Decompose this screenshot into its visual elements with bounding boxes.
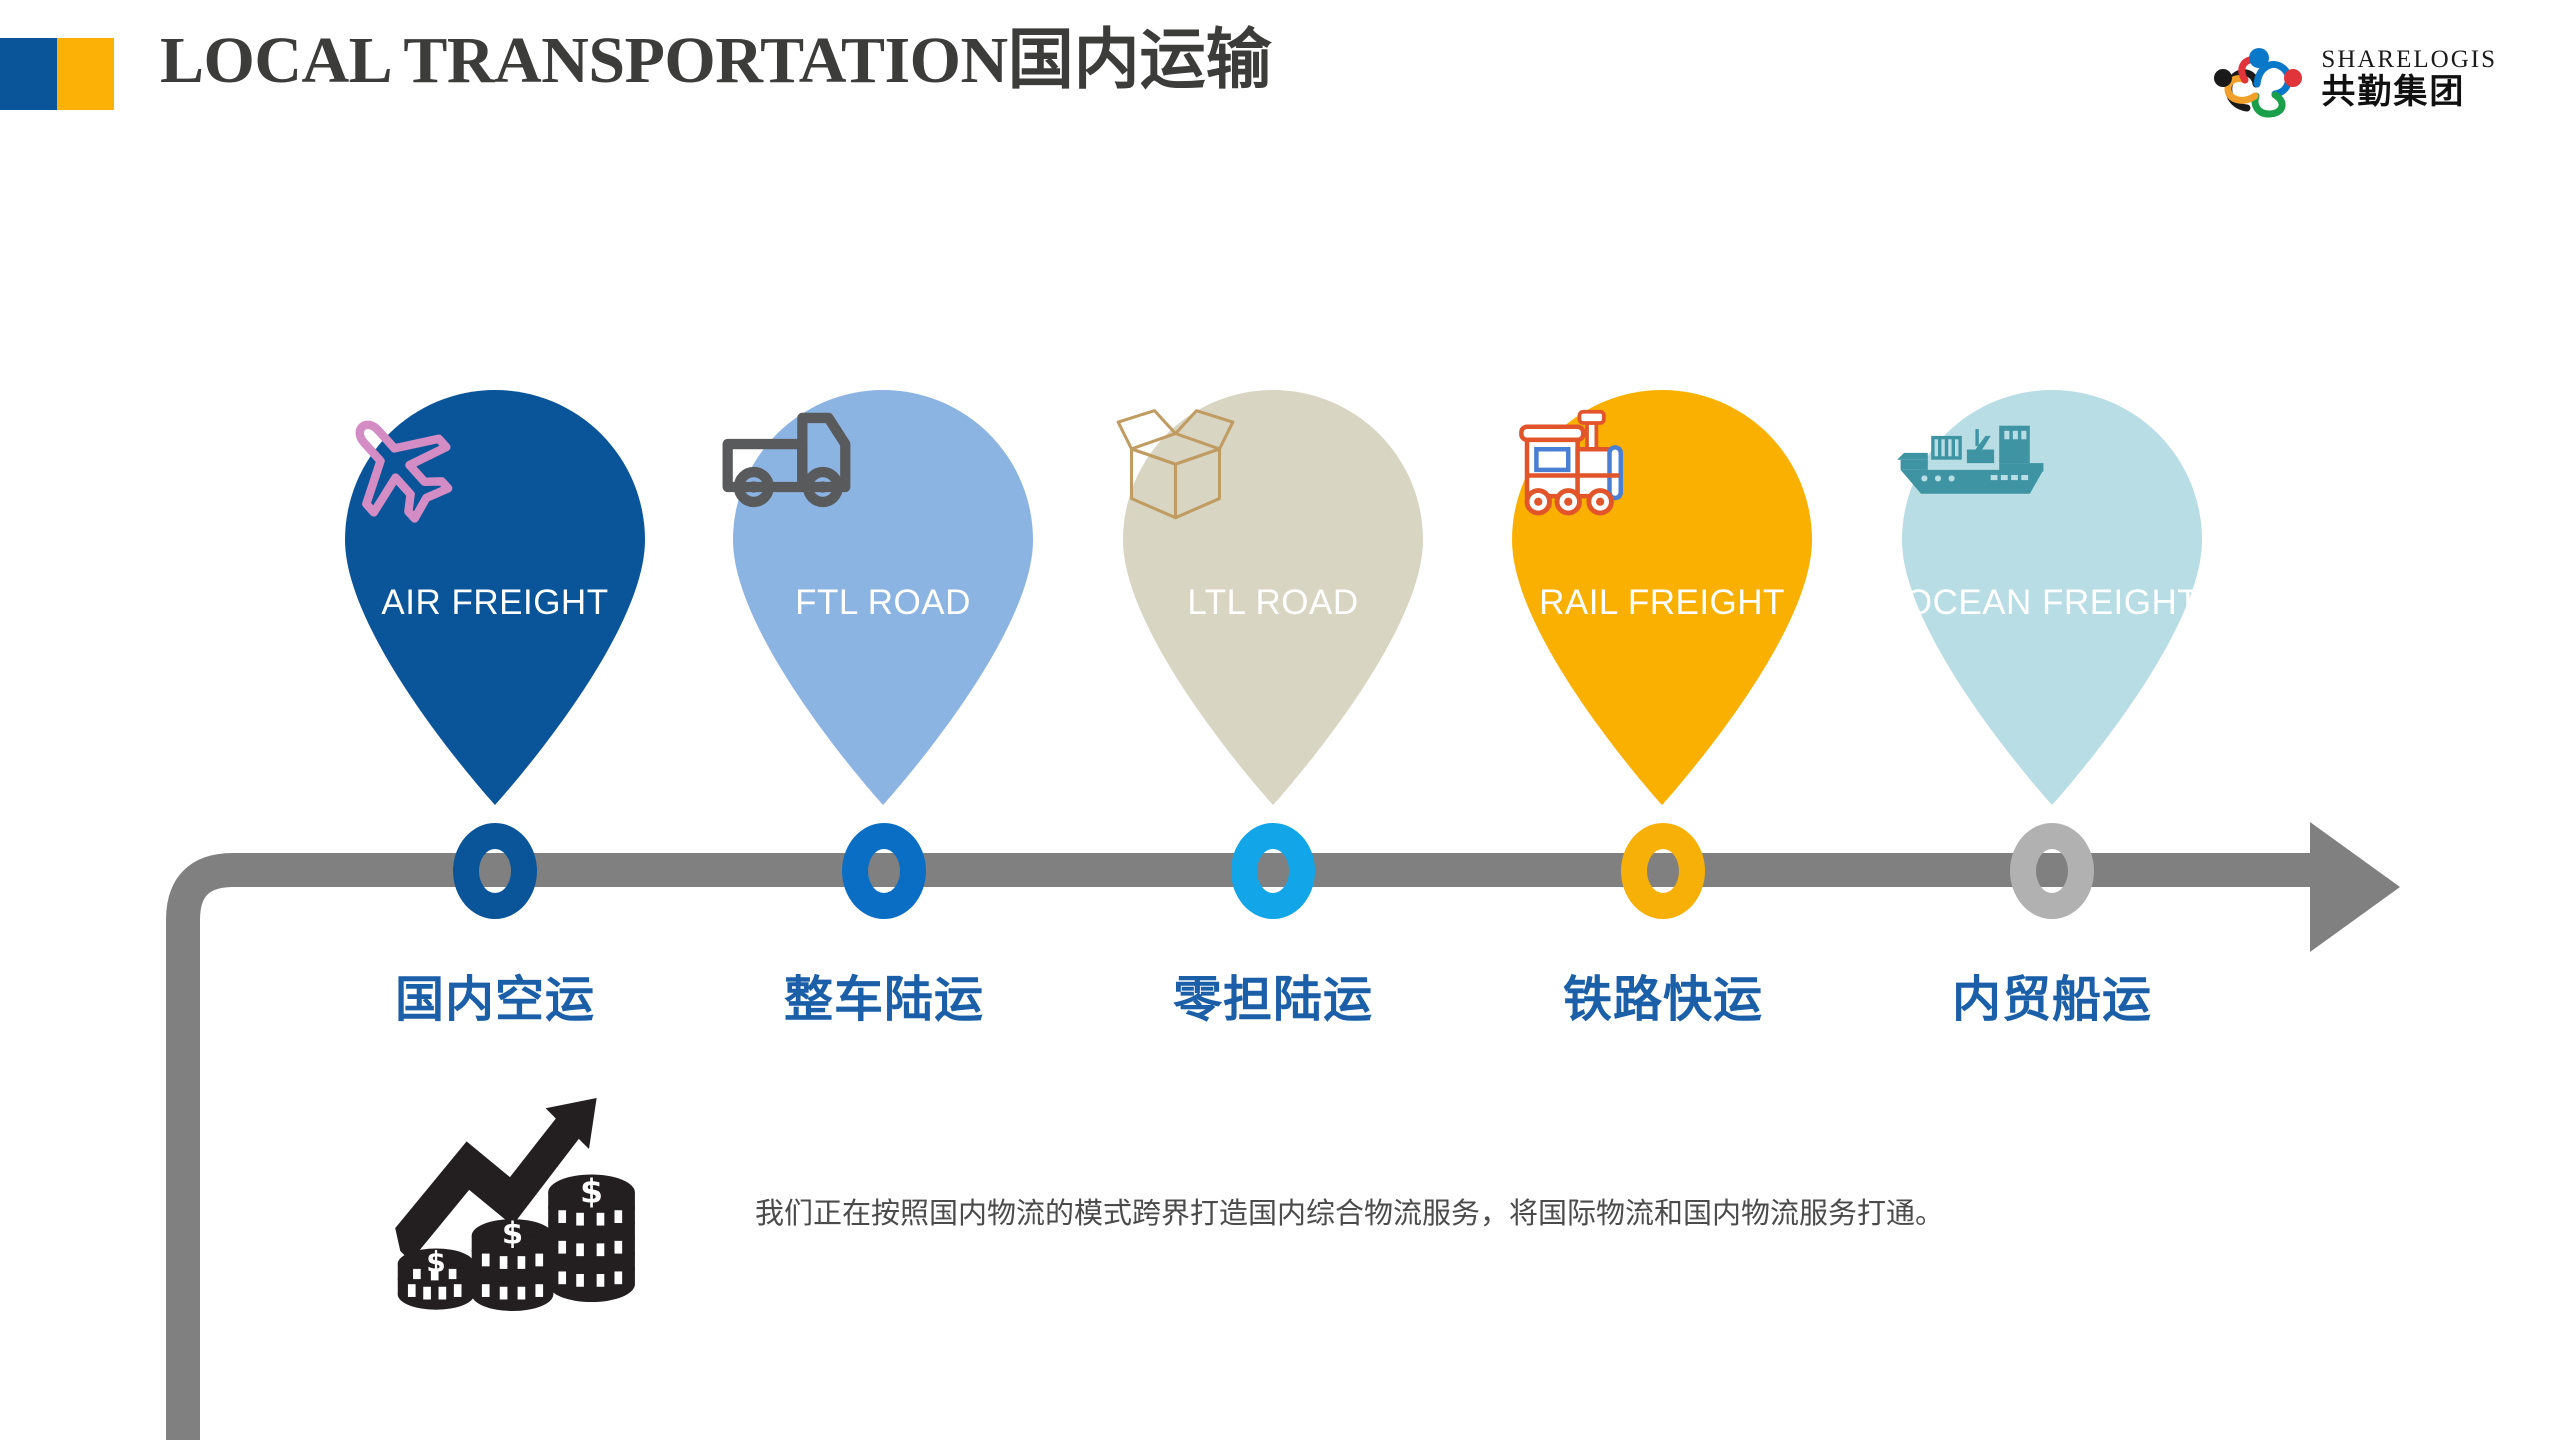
growth-money-icon: $ $ $: [385, 1070, 640, 1325]
pin-shape: [718, 375, 1048, 805]
label-rail-freight-cn: 铁路快运: [1463, 960, 1863, 1031]
logo-text-cn: 共勤集团: [2321, 75, 2497, 109]
truck-icon: [718, 403, 1048, 573]
pin-label: OCEAN FREIGHT: [1887, 583, 2217, 623]
station-ring: [1621, 823, 1705, 919]
station-ring: [1231, 823, 1315, 919]
pin-ftl-road[interactable]: FTL ROAD: [718, 375, 1048, 805]
pin-shape: [1108, 375, 1438, 805]
train-icon: [1497, 403, 1827, 573]
cargo-ship-icon: [1887, 403, 2217, 573]
logo-text-en: SHARELOGIS: [2321, 47, 2497, 72]
page-title-en: LOCAL TRANSPORTATION: [160, 24, 1008, 97]
people-circle-logo-icon: [2211, 38, 2311, 118]
right-arrow-icon: [2310, 822, 2400, 952]
station-ring: [842, 823, 926, 919]
pin-label: LTL ROAD: [1108, 583, 1438, 623]
station-ftl-road[interactable]: [842, 823, 926, 919]
footer-description: 我们正在按照国内物流的模式跨界打造国内综合物流服务，将国际物流和国内物流服务打通…: [755, 1190, 1944, 1232]
pin-label: AIR FREIGHT: [330, 583, 660, 623]
header-accent-bars: [0, 38, 114, 110]
pin-shape: [330, 375, 660, 805]
pin-label: FTL ROAD: [718, 583, 1048, 623]
pin-shape: [1887, 375, 2217, 805]
station-ring: [453, 823, 537, 919]
station-ltl-road[interactable]: [1231, 823, 1315, 919]
station-ocean-freight[interactable]: [2010, 823, 2094, 919]
label-ltl-road-cn: 零担陆运: [1073, 960, 1473, 1031]
accent-bar-blue: [0, 38, 57, 110]
pin-ltl-road[interactable]: LTL ROAD: [1108, 375, 1438, 805]
station-rail-freight[interactable]: [1621, 823, 1705, 919]
page-title-cn: 国内运输: [1008, 20, 1272, 98]
accent-bar-yellow: [57, 38, 114, 110]
pin-ocean-freight[interactable]: OCEAN FREIGHT: [1887, 375, 2217, 805]
brand-logo: SHARELOGIS 共勤集团: [2211, 38, 2497, 118]
pin-shape: [1497, 375, 1827, 805]
station-ring: [2010, 823, 2094, 919]
slide-root: LOCAL TRANSPORTATION国内运输 SHARELOGIS 共勤集团: [0, 0, 2559, 1440]
pin-air-freight[interactable]: AIR FREIGHT: [330, 375, 660, 805]
airplane-icon: [330, 403, 660, 573]
label-ocean-freight-cn: 内贸船运: [1852, 960, 2252, 1031]
station-air-freight[interactable]: [453, 823, 537, 919]
open-box-icon: [1108, 403, 1438, 573]
pin-label: RAIL FREIGHT: [1497, 583, 1827, 623]
svg-text:$: $: [580, 1172, 603, 1211]
label-ftl-road-cn: 整车陆运: [684, 960, 1084, 1031]
page-title: LOCAL TRANSPORTATION国内运输: [160, 26, 1272, 94]
label-air-freight-cn: 国内空运: [295, 960, 695, 1031]
svg-text:$: $: [502, 1216, 523, 1251]
pin-rail-freight[interactable]: RAIL FREIGHT: [1497, 375, 1827, 805]
